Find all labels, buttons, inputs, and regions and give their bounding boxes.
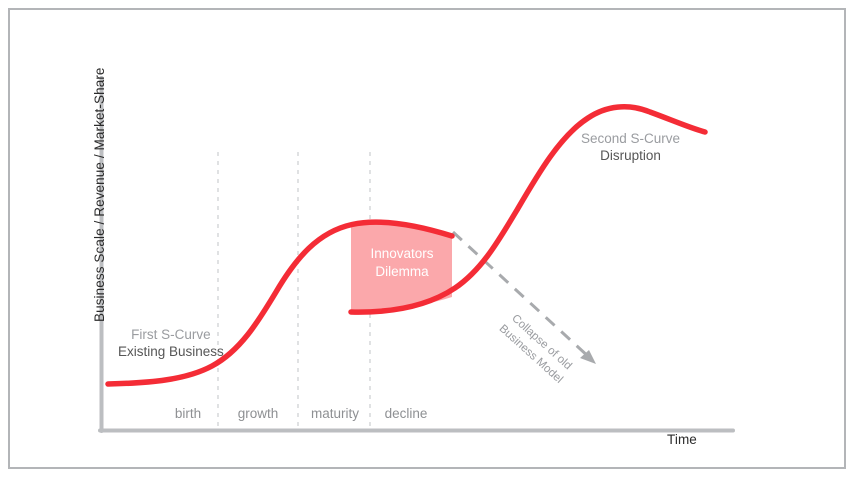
stage-label-maturity: maturity: [303, 406, 367, 421]
second-curve-annotation: Second S-Curve Disruption: [581, 130, 680, 165]
stage-label-decline: decline: [376, 406, 436, 421]
y-axis-title: Business Scale / Revenue / Market-Share: [92, 67, 107, 322]
second-curve-annotation-bottom: Disruption: [581, 147, 680, 164]
second-curve-annotation-top: Second S-Curve: [581, 130, 680, 147]
stage-label-birth: birth: [158, 406, 218, 421]
first-curve-annotation: First S-Curve Existing Business: [118, 326, 224, 361]
first-curve-annotation-bottom: Existing Business: [118, 343, 224, 360]
stage-label-growth: growth: [228, 406, 288, 421]
gridlines-group: [218, 152, 370, 430]
s-curve-diagram-canvas: Business Scale / Revenue / Market-Share …: [0, 0, 856, 479]
innovators-dilemma-label-bottom: Dilemma: [356, 263, 448, 281]
innovators-dilemma-label-top: Innovators: [356, 245, 448, 263]
innovators-dilemma-label: Innovators Dilemma: [356, 245, 448, 281]
x-axis-title: Time: [667, 432, 697, 447]
first-curve-annotation-top: First S-Curve: [118, 326, 224, 343]
